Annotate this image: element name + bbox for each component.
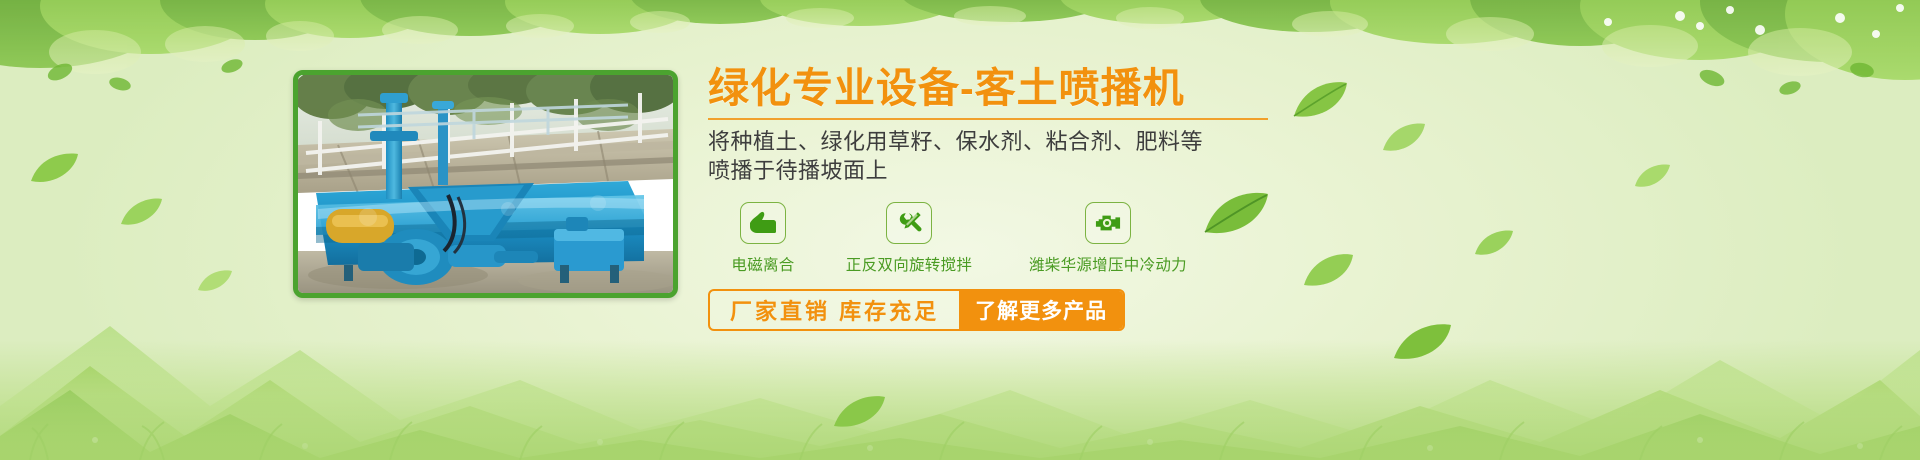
- learn-more-button[interactable]: 了解更多产品: [959, 291, 1123, 329]
- page-title: 绿化专业设备-客土喷播机: [708, 66, 1328, 112]
- feature-label: 潍柴华源增压中冷动力: [1029, 253, 1187, 275]
- floating-leaf-icon: [118, 196, 164, 228]
- wrench-screwdriver-icon: [886, 202, 932, 244]
- floating-leaf-icon: [1380, 120, 1428, 154]
- floating-leaf-icon: [830, 392, 888, 432]
- wrench-screwdriver-glyph: [894, 209, 924, 237]
- thumbs-up-icon: [740, 202, 786, 244]
- feature-list: 电磁离合 正反双向旋转搅拌: [708, 202, 1328, 275]
- product-photo-frame: [293, 70, 678, 298]
- engine-icon: [1085, 202, 1131, 244]
- cta-row: 厂家直销 库存充足 了解更多产品: [708, 289, 1125, 331]
- feature-label: 正反双向旋转搅拌: [846, 253, 972, 275]
- title-underline: [708, 118, 1268, 120]
- product-photo: [298, 75, 673, 293]
- thumbs-up-glyph: [748, 209, 778, 237]
- feature-item-clutch: 电磁离合: [708, 202, 818, 275]
- product-photo-svg: [298, 75, 673, 293]
- floating-leaf-icon: [1632, 162, 1672, 190]
- subtitle-line-1: 将种植土、绿化用草籽、保水剂、粘合剂、肥料等: [708, 127, 1328, 156]
- floating-leaf-icon: [28, 150, 80, 186]
- floating-leaf-icon: [1472, 228, 1516, 258]
- grass-gradient: [0, 340, 1920, 460]
- engine-glyph: [1093, 210, 1123, 236]
- floating-leaf-icon: [196, 268, 234, 294]
- floating-leaf-icon: [1390, 320, 1454, 364]
- feature-label: 电磁离合: [731, 253, 794, 275]
- feature-item-engine: 潍柴华源增压中冷动力: [1000, 202, 1216, 275]
- promo-banner: 绿化专业设备-客土喷播机 将种植土、绿化用草籽、保水剂、粘合剂、肥料等 喷播于待…: [0, 0, 1920, 460]
- banner-content: 绿化专业设备-客土喷播机 将种植土、绿化用草籽、保水剂、粘合剂、肥料等 喷播于待…: [708, 66, 1328, 331]
- feature-item-mixing: 正反双向旋转搅拌: [818, 202, 1000, 275]
- subtitle-line-2: 喷播于待播坡面上: [708, 156, 1328, 185]
- cta-slogan: 厂家直销 库存充足: [710, 291, 959, 329]
